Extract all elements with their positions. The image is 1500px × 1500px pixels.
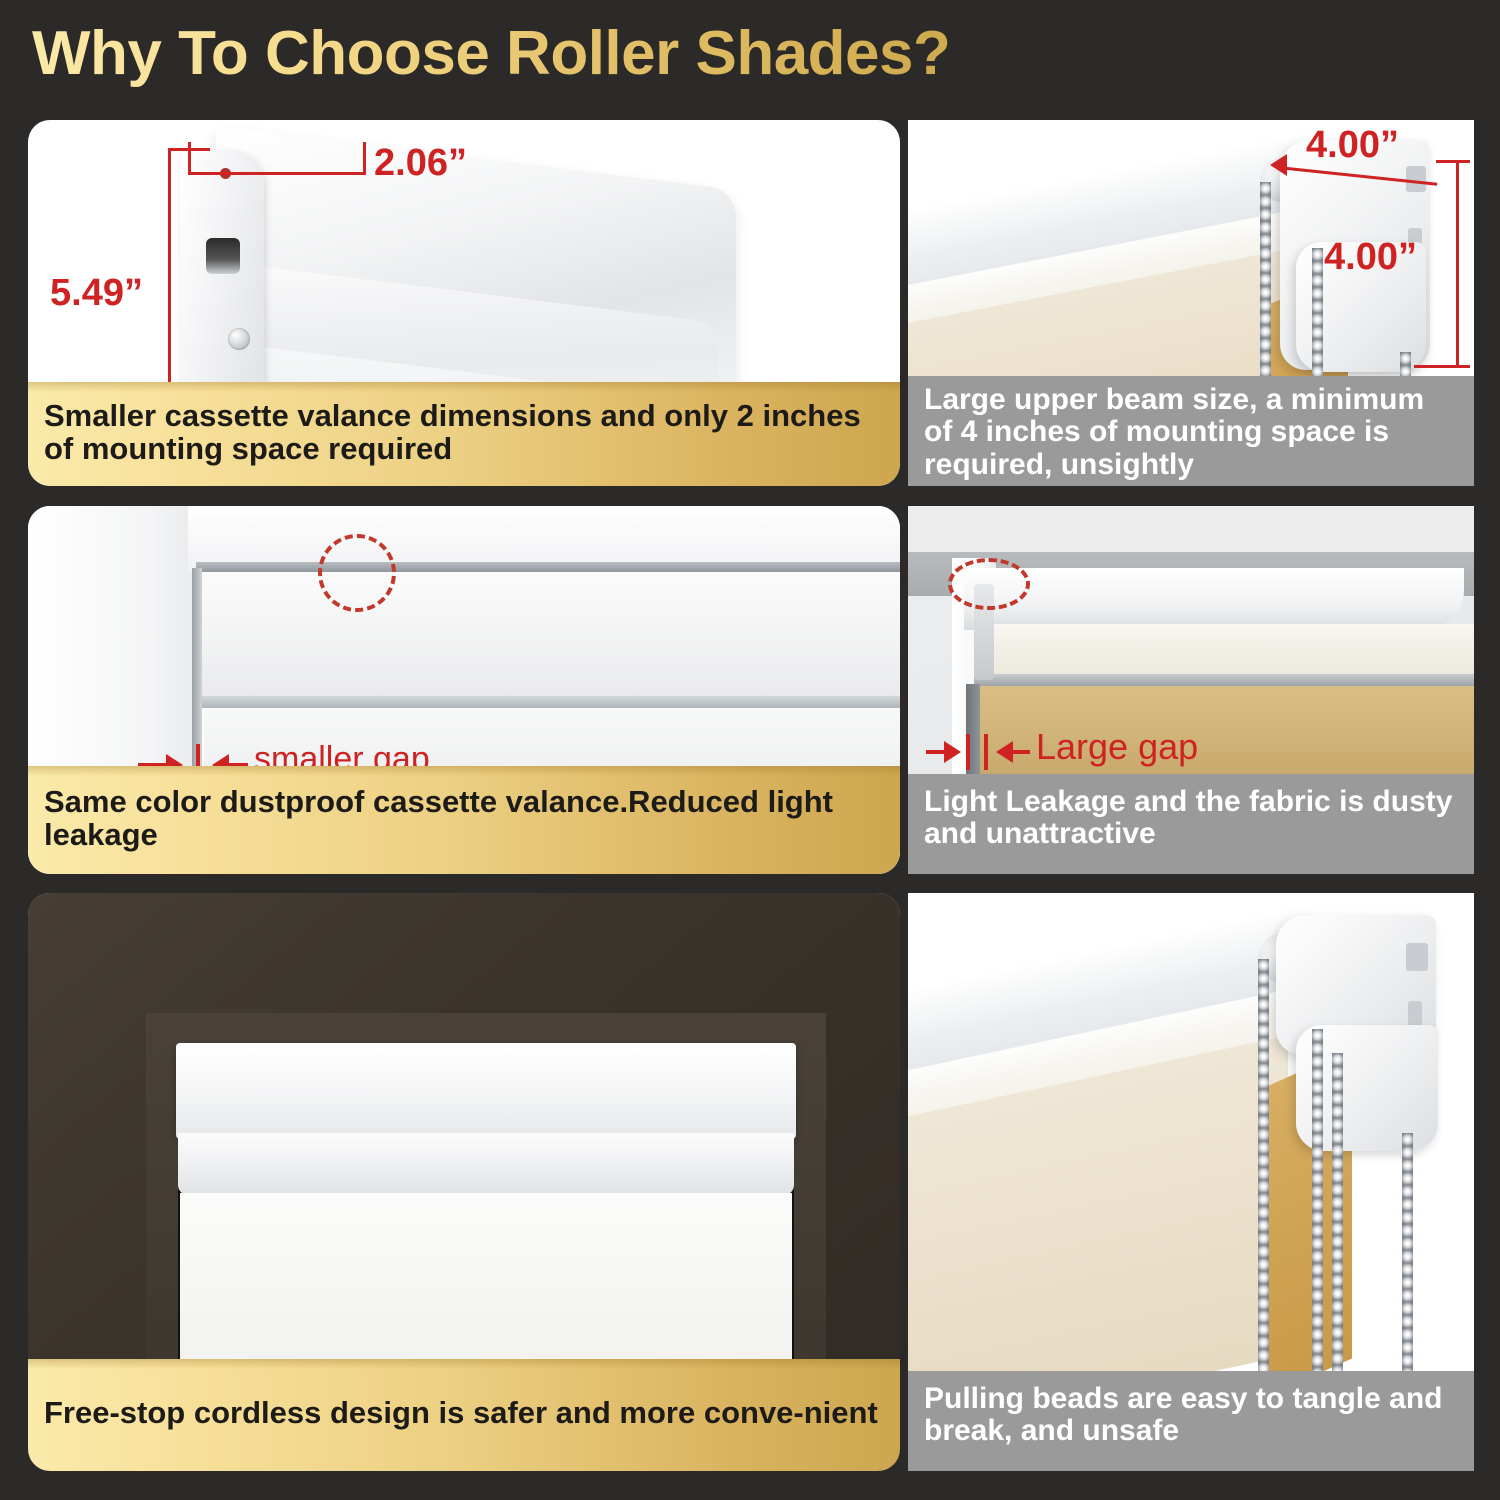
cassette-valance-face [200,572,900,698]
bracket-notch [1406,943,1428,971]
panel-smaller-gap: smaller gap Same color dustproof cassett… [28,506,900,874]
screw-icon [228,328,250,350]
gap-arrow-stem-left [926,750,946,754]
caption-large-gap: Light Leakage and the fabric is dusty an… [908,774,1474,874]
width-dim-tick-left [188,142,191,174]
caption-pulling-beads: Pulling beads are easy to tangle and bre… [908,1371,1474,1471]
gap-label: Large gap [1036,726,1198,768]
height-dim-tick-top [168,148,210,151]
highlight-circle-icon [948,558,1030,610]
bead-chain [1312,1029,1323,1383]
caption-smaller-gap: Same color dustproof cassette valance.Re… [28,766,900,874]
panel-large-upper-beam: 4.00” 4.00” Large upper beam size, a min… [908,120,1474,486]
caption-cordless-design: Free-stop cordless design is safer and m… [28,1359,900,1471]
shade-fabric-light [974,624,1474,676]
infographic-root: Why To Choose Roller Shades? 2.06” [0,0,1500,1500]
panel-cassette-dimensions: 2.06” 5.49” Smaller cassette valance dim… [28,120,900,486]
width-dimension-line [188,172,366,175]
valance-slot [206,238,240,274]
caption-cassette-dimensions: Smaller cassette valance dimensions and … [28,382,900,486]
gap-measure-line-b [984,734,988,770]
bead-chain [1402,1133,1413,1383]
beam-height-tick-bottom [1414,365,1470,368]
beam-width-arrow-left [1270,154,1287,176]
gap-arrow-stem-right [1012,750,1030,754]
bead-chain [1332,1053,1343,1383]
ceiling-band [908,506,1474,552]
caption-large-upper-beam: Large upper beam size, a minimum of 4 in… [908,376,1474,486]
panel-pulling-beads: Pulling beads are easy to tangle and bre… [908,893,1474,1471]
cassette-top-edge [196,562,900,572]
width-dimension-label: 2.06” [374,142,467,185]
gap-measure-line-a [966,734,970,770]
valance-end-cap [180,150,264,420]
panel-large-gap: Large gap Light Leakage and the fabric i… [908,506,1474,874]
gap-arrow-left [944,741,961,763]
gap-arrow-right [996,741,1013,763]
height-dimension-label: 5.49” [50,272,143,315]
roller-tube [964,568,1464,630]
fabric-edge-shadow [974,674,1474,686]
panel-cordless-design: Free-stop cordless design is safer and m… [28,893,900,1471]
beam-height-label: 4.00” [1324,236,1417,279]
bead-chain [1258,959,1269,1383]
width-dim-tick-right [363,142,366,174]
beam-height-tick-top [1436,160,1470,163]
highlight-circle-icon [318,534,396,612]
shade-valance [178,1133,794,1195]
beam-width-label: 4.00” [1306,124,1399,167]
window-frame-left [28,506,198,774]
beam-height-dimension-line [1456,160,1459,368]
page-title: Why To Choose Roller Shades? [32,18,950,89]
valance-lower-edge [200,696,900,708]
shade-headrail [176,1043,796,1139]
